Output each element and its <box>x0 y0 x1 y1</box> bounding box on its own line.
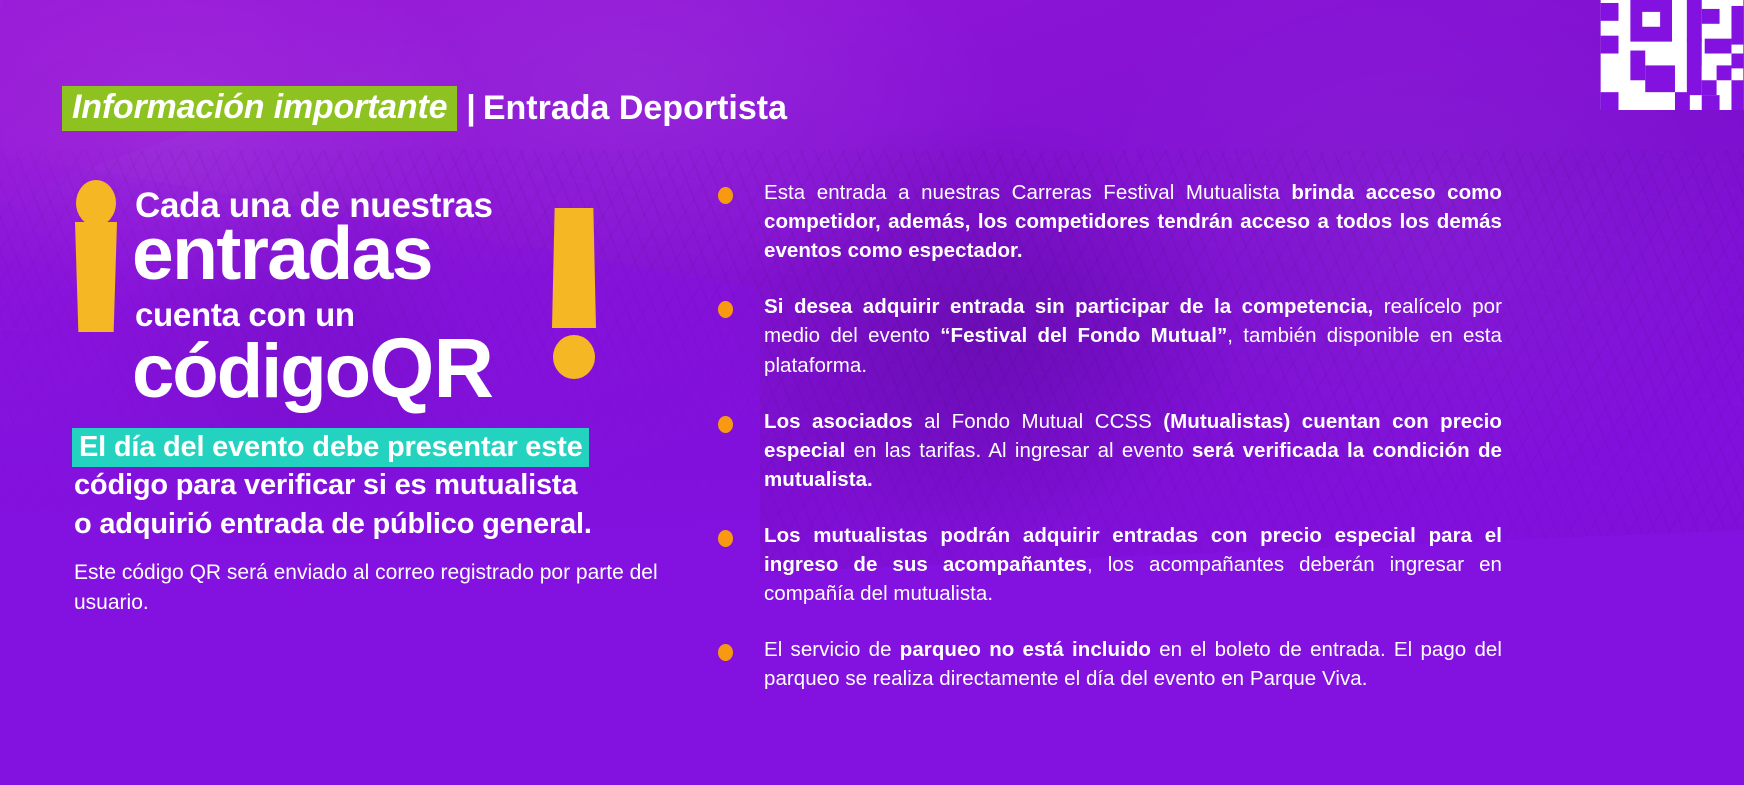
promo-banner: Información importante | Entrada Deporti… <box>0 0 1744 785</box>
statement-line-1: El día del evento debe presentar este <box>74 428 714 466</box>
inverted-exclamation-dot-icon <box>76 180 116 226</box>
hero-line-2: entradas <box>132 216 432 291</box>
bullet-sin-competencia: Si desea adquirir entrada sin participar… <box>712 292 1502 379</box>
exclamation-dot-icon <box>553 335 595 379</box>
footnote-text: Este código QR será enviado al correo re… <box>74 558 674 619</box>
bullet-dot-icon <box>718 187 733 204</box>
statement-line-2: código para verificar si es mutualista <box>74 466 714 504</box>
bullet-acompanantes: Los mutualistas podrán adquirir entradas… <box>712 521 1502 608</box>
page-title-highlight: Información importante <box>62 86 457 131</box>
bullet-text-regular: en las tarifas. Al ingresar al evento <box>845 439 1192 462</box>
bullet-text: Esta entrada a nuestras Carreras Festiva… <box>764 178 1502 265</box>
bullet-text: Los asociados al Fondo Mutual CCSS (Mutu… <box>764 407 1502 494</box>
bullet-text: Los mutualistas podrán adquirir entradas… <box>764 521 1502 608</box>
bullet-text: El servicio de parqueo no está incluido … <box>764 635 1502 693</box>
bullet-dot-icon <box>718 416 733 433</box>
bullet-text-regular: al Fondo Mutual CCSS <box>913 410 1164 433</box>
statement-line-1-highlight: El día del evento debe presentar este <box>74 430 587 465</box>
bullet-dot-icon <box>718 301 733 318</box>
exclamation-stem-icon <box>552 208 596 328</box>
bullet-asociados-precio-especial: Los asociados al Fondo Mutual CCSS (Mutu… <box>712 407 1502 494</box>
bullet-text-bold: Si desea adquirir entrada sin participar… <box>764 295 1373 318</box>
inverted-exclamation-stem-icon <box>75 222 117 332</box>
page-title: Información importante | Entrada Deporti… <box>62 86 787 131</box>
hero-line-4-qr: QR <box>369 321 493 415</box>
page-title-subject: Entrada Deportista <box>483 91 787 125</box>
qr-code-icon <box>1600 0 1744 110</box>
statement-block: El día del evento debe presentar este có… <box>74 428 714 543</box>
hero-headline: Cada una de nuestras entradas cuenta con… <box>70 180 690 400</box>
hero-line-4: códigoQR <box>132 326 493 410</box>
bullet-dot-icon <box>718 644 733 661</box>
statement-line-3: o adquirió entrada de público general. <box>74 505 714 543</box>
info-bullet-list: Esta entrada a nuestras Carreras Festiva… <box>712 178 1502 694</box>
bullet-acceso-competidor: Esta entrada a nuestras Carreras Festiva… <box>712 178 1502 265</box>
bullet-dot-icon <box>718 530 733 547</box>
bullet-text: Si desea adquirir entrada sin participar… <box>764 292 1502 379</box>
bullet-text-regular: El servicio de <box>764 638 900 661</box>
bullet-text-bold: parqueo no está incluido <box>900 638 1151 661</box>
bullet-text-bold: “Festival del Fondo Mutual” <box>940 324 1227 347</box>
bullet-text-bold: Los asociados <box>764 410 913 433</box>
page-title-separator: | <box>457 91 483 125</box>
bullet-text-regular: Esta entrada a nuestras Carreras Festiva… <box>764 181 1291 204</box>
bullet-parqueo: El servicio de parqueo no está incluido … <box>712 635 1502 693</box>
hero-line-4-codigo: código <box>132 329 369 414</box>
